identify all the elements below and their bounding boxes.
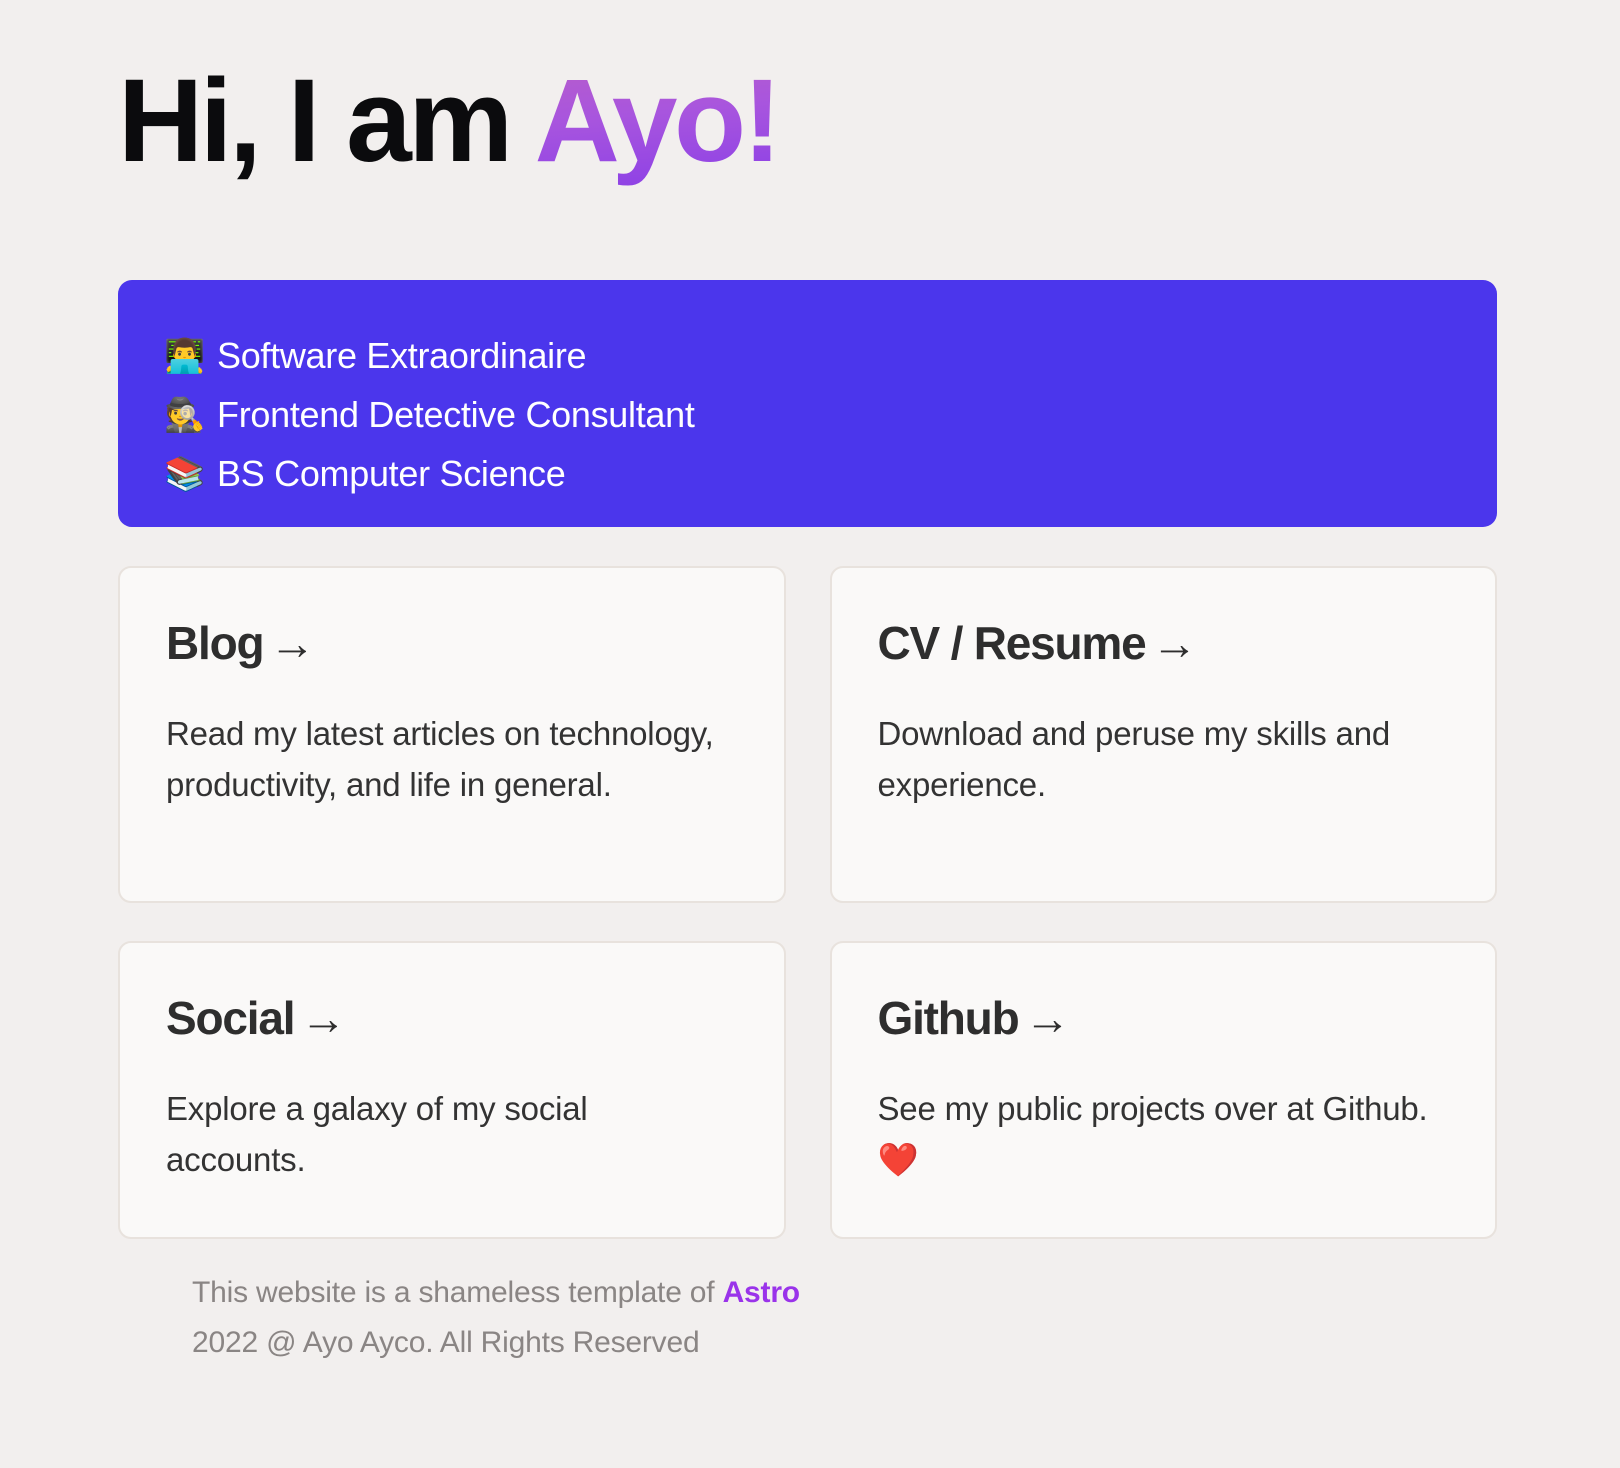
card-blog[interactable]: Blog→ Read my latest articles on technol… [118,566,786,903]
profile-highlights-badge: 👨‍💻 Software Extraordinaire 🕵️ Frontend … [118,280,1497,527]
card-title: Blog→ [166,616,738,670]
hero-section: Hi, I am Ayo! [118,52,1498,191]
card-title-text: Blog [166,617,263,669]
highlight-label: BS Computer Science [217,444,565,503]
card-cv-resume[interactable]: CV / Resume→ Download and peruse my skil… [830,566,1498,903]
portfolio-landing-page: Hi, I am Ayo! 👨‍💻 Software Extraordinair… [0,0,1620,1468]
card-description: See my public projects over at Github. ❤… [878,1083,1438,1185]
hero-name-text: Ayo! [535,55,779,187]
detective-emoji: 🕵️ [164,398,204,431]
card-title-text: CV / Resume [878,617,1146,669]
arrow-right-icon: → [269,617,314,669]
card-github[interactable]: Github→ See my public projects over at G… [830,941,1498,1239]
card-description: Read my latest articles on technology, p… [166,708,726,810]
page-title: Hi, I am Ayo! [118,52,1498,191]
hero-greeting-text: Hi, I am [118,55,535,187]
astro-link[interactable]: Astro [723,1276,800,1309]
list-item: 🕵️ Frontend Detective Consultant [164,385,1497,444]
footer-credit-text: This website is a shameless template of [192,1276,723,1309]
card-title: CV / Resume→ [878,616,1450,670]
arrow-right-icon: → [300,992,345,1044]
footer-credit-line: This website is a shameless template of … [192,1268,1392,1318]
highlight-label: Software Extraordinaire [217,326,586,385]
footer-copyright: 2022 @ Ayo Ayco. All Rights Reserved [192,1318,1392,1368]
card-social[interactable]: Social→ Explore a galaxy of my social ac… [118,941,786,1239]
card-description: Download and peruse my skills and experi… [878,708,1438,810]
link-card-grid: Blog→ Read my latest articles on technol… [118,566,1497,1239]
card-title: Social→ [166,991,738,1045]
arrow-right-icon: → [1152,617,1197,669]
list-item: 👨‍💻 Software Extraordinaire [164,326,1497,385]
profile-highlights-list: 👨‍💻 Software Extraordinaire 🕵️ Frontend … [164,326,1497,503]
card-title: Github→ [878,991,1450,1045]
technologist-emoji: 👨‍💻 [164,339,204,372]
card-description: Explore a galaxy of my social accounts. [166,1083,726,1185]
books-emoji: 📚 [164,457,204,490]
card-title-text: Github [878,992,1019,1044]
card-title-text: Social [166,992,294,1044]
page-footer: This website is a shameless template of … [192,1268,1392,1368]
arrow-right-icon: → [1024,992,1069,1044]
highlight-label: Frontend Detective Consultant [217,385,695,444]
list-item: 📚 BS Computer Science [164,444,1497,503]
